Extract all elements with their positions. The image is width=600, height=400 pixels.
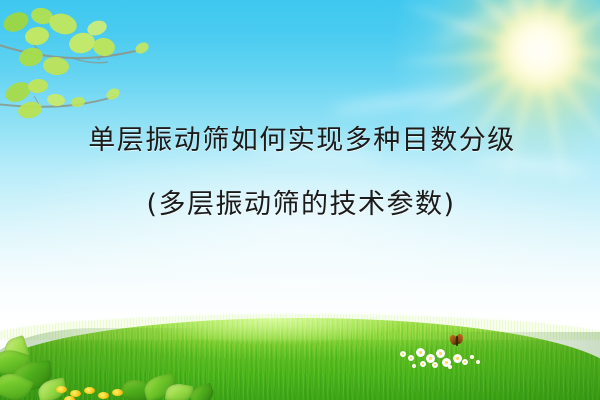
daisy-flower <box>448 365 452 369</box>
daisy-flower <box>420 361 426 367</box>
butterfly-body <box>456 336 458 346</box>
yellow-flower <box>98 392 109 399</box>
daisy-flower <box>453 354 462 363</box>
daisy-flower <box>412 364 416 368</box>
title-line-2: (多层振动筛的技术参数) <box>0 182 600 228</box>
branch-leaves <box>0 6 150 120</box>
title-block: 单层振动筛如何实现多种目数分级 (多层振动筛的技术参数) <box>0 118 600 228</box>
branch-svg <box>0 0 230 130</box>
yellow-flower <box>64 396 75 400</box>
foreground-foliage <box>0 336 224 400</box>
article-banner-image: 单层振动筛如何实现多种目数分级 (多层振动筛的技术参数) <box>0 0 600 400</box>
daisy-cluster <box>398 340 488 374</box>
daisy-flower <box>400 351 406 357</box>
foliage-leaf <box>188 382 217 400</box>
yellow-flower <box>84 387 95 394</box>
yellow-flower <box>56 386 67 393</box>
daisy-flower <box>462 359 468 365</box>
daisy-flower <box>408 355 414 361</box>
daisy-flower <box>470 355 474 359</box>
daisy-flower <box>416 348 425 357</box>
daisy-flower <box>476 360 480 364</box>
yellow-flower <box>112 389 123 396</box>
title-line-1: 单层振动筛如何实现多种目数分级 <box>0 118 600 164</box>
daisy-flower <box>436 349 445 358</box>
butterfly-icon <box>450 334 464 348</box>
leafy-branch-decoration <box>0 0 230 130</box>
daisy-flower <box>432 362 438 368</box>
